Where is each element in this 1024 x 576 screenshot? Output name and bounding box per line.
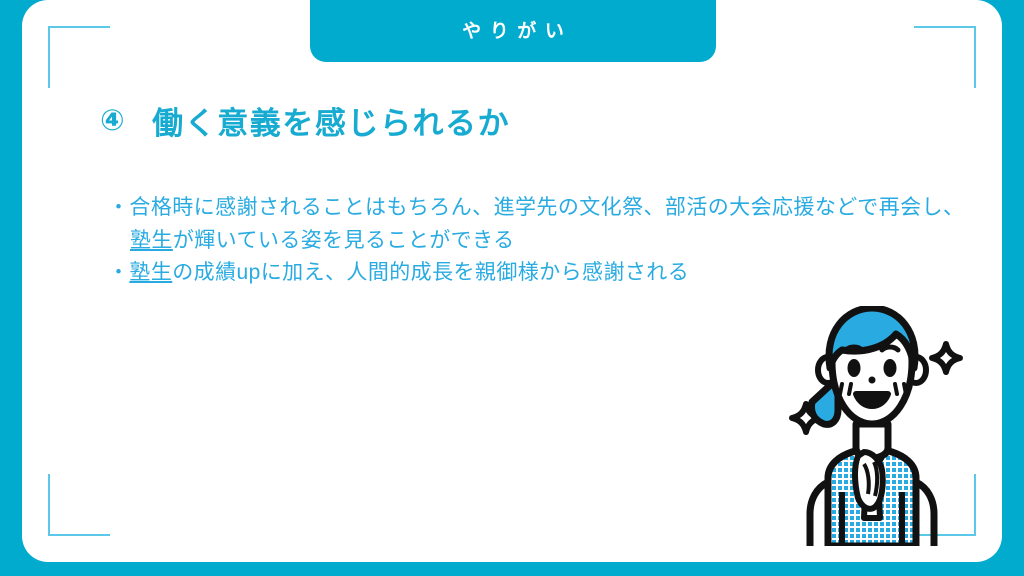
bullet-text-line-2: が輝いている姿を見ることができる (173, 229, 515, 252)
section-banner-label: やりがい (454, 16, 573, 41)
person-illustration (766, 306, 978, 546)
person-eye-right (884, 359, 897, 377)
bullet-text-line-1: の成績upに加え、人間的成長を親御様から感謝される (172, 261, 689, 284)
bullet-marker: ・ (108, 261, 129, 284)
person-nose (869, 377, 876, 384)
bullet-text-line-1: 合格時に感謝されることはもちろん、進学先の文化祭、部活の大会応援などで再会し、 (129, 196, 964, 219)
slide-content-area: やりがい ④ 働く意義を感じられるか ・合格時に感謝されることはもちろん、進学先… (22, 0, 1002, 562)
corner-bracket-top-right (914, 26, 976, 88)
list-item: ・合格時に感謝されることはもちろん、進学先の文化祭、部活の大会応援などで再会し、 (108, 192, 964, 225)
person-eye-left (848, 359, 861, 377)
sparkle-icon-right (932, 344, 960, 372)
bullet-list: ・合格時に感謝されることはもちろん、進学先の文化祭、部活の大会応援などで再会し、… (108, 192, 964, 290)
list-item: ・塾生の成績upに加え、人間的成長を親御様から感謝される (108, 257, 964, 290)
corner-bracket-top-left (48, 26, 110, 88)
page-title-text: 働く意義を感じられるか (152, 98, 510, 143)
bullet-emphasis-term: 塾生 (130, 229, 173, 252)
section-banner: やりがい (310, 0, 716, 62)
person-mouth (856, 394, 888, 406)
page-title-number: ④ (100, 103, 126, 138)
bullet-emphasis-term: 塾生 (129, 261, 172, 284)
page-title: ④ 働く意義を感じられるか (100, 98, 510, 143)
list-item-continuation: 塾生が輝いている姿を見ることができる (108, 225, 964, 258)
corner-bracket-bottom-left (48, 474, 110, 536)
person-hands (855, 452, 883, 509)
bullet-marker: ・ (108, 196, 129, 219)
slide-root: やりがい ④ 働く意義を感じられるか ・合格時に感謝されることはもちろん、進学先… (0, 0, 1024, 576)
